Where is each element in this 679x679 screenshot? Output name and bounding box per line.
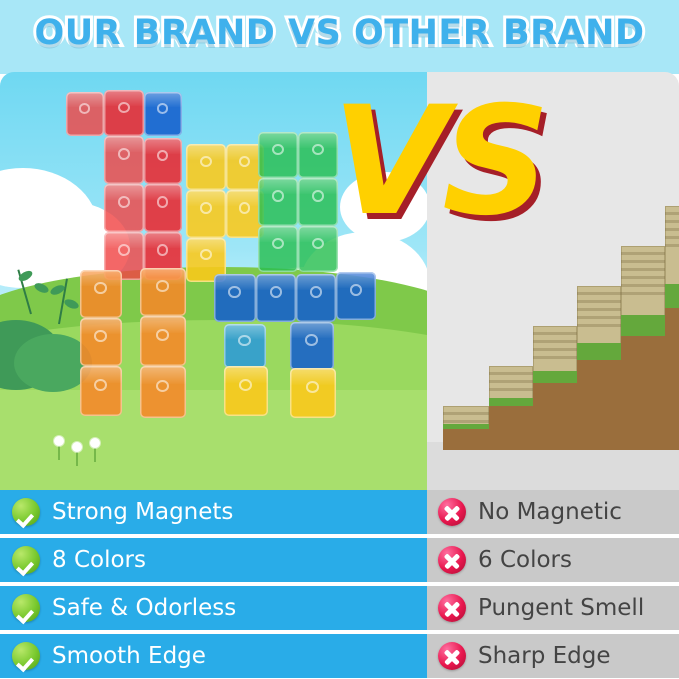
ours-feature-cell: Smooth Edge [0, 634, 427, 678]
magnetic-cube [80, 366, 122, 416]
ours-feature-cell: Safe & Odorless [0, 586, 427, 630]
magnetic-cube [290, 322, 334, 370]
others-feature-label: Sharp Edge [478, 643, 611, 669]
magnetic-cube [140, 366, 186, 418]
feature-comparison-table: Strong Magnets No Magnetic 8 Colors 6 Co… [0, 490, 679, 679]
red-x-circle-icon [438, 594, 466, 622]
magnetic-cube [258, 132, 298, 178]
magnetic-cube [144, 184, 182, 232]
others-feature-label: Pungent Smell [478, 595, 644, 621]
red-x-circle-icon [438, 498, 466, 526]
grass-foreground [0, 390, 427, 490]
others-feature-cell: Sharp Edge [427, 634, 679, 678]
flower-stem [76, 450, 78, 466]
table-row: 8 Colors 6 Colors [0, 538, 679, 582]
magnetic-cube [186, 190, 226, 238]
red-x-circle-icon [438, 642, 466, 670]
magnetic-cube [104, 184, 144, 232]
red-x-circle-icon [438, 546, 466, 574]
others-feature-cell: No Magnetic [427, 490, 679, 534]
magnetic-cube [80, 318, 122, 366]
ours-feature-label: Smooth Edge [52, 643, 206, 669]
page-title: OUR BRAND VS OTHER BRAND [0, 8, 679, 58]
product-comparison-image: OUR BRAND VS OTHER BRAND [0, 0, 679, 679]
green-check-circle-icon [12, 498, 40, 526]
wooden-block-stack [443, 406, 489, 450]
ours-feature-cell: Strong Magnets [0, 490, 427, 534]
ours-feature-label: Strong Magnets [52, 499, 233, 525]
green-check-circle-icon [12, 594, 40, 622]
magnetic-cube [224, 324, 266, 368]
wooden-block-stack [489, 366, 533, 450]
header-band: OUR BRAND VS OTHER BRAND [0, 0, 679, 74]
magnetic-cube [144, 138, 182, 184]
magnetic-cube [104, 136, 144, 184]
magnetic-cube [336, 272, 376, 320]
table-row: Strong Magnets No Magnetic [0, 490, 679, 534]
table-row: Smooth Edge Sharp Edge [0, 634, 679, 678]
wooden-block-stack [533, 326, 577, 450]
ours-feature-cell: 8 Colors [0, 538, 427, 582]
magnetic-cube [80, 270, 122, 318]
table-row: Safe & Odorless Pungent Smell [0, 586, 679, 630]
magnetic-cube [140, 268, 186, 316]
magnetic-cube [258, 178, 298, 226]
others-feature-cell: Pungent Smell [427, 586, 679, 630]
green-check-circle-icon [12, 546, 40, 574]
ours-feature-label: 8 Colors [52, 547, 146, 573]
flower-icon [72, 442, 82, 452]
magnetic-cube [256, 274, 296, 322]
others-feature-cell: 6 Colors [427, 538, 679, 582]
others-feature-label: No Magnetic [478, 499, 622, 525]
magnetic-cube [214, 274, 256, 322]
magnetic-cube [290, 368, 336, 418]
magnetic-cube [66, 92, 104, 136]
flower-icon [54, 436, 64, 446]
magnetic-cube [224, 366, 268, 416]
magnetic-cube [258, 226, 298, 272]
magnetic-cube [296, 274, 336, 322]
comparison-image-panel: VS OURS Others [0, 72, 679, 490]
green-check-circle-icon [12, 642, 40, 670]
magnetic-cube [144, 92, 182, 136]
wooden-block-stack [665, 206, 679, 450]
ours-feature-label: Safe & Odorless [52, 595, 236, 621]
magnetic-cube [104, 90, 144, 136]
flower-icon [90, 438, 100, 448]
flower-stem [58, 444, 60, 460]
flower-stem [94, 446, 96, 462]
others-feature-label: 6 Colors [478, 547, 572, 573]
magnetic-cube [140, 316, 186, 366]
wooden-block-stack [621, 246, 665, 450]
magnetic-cube [186, 144, 226, 190]
wooden-block-stack [577, 286, 621, 450]
vs-label: VS [332, 82, 544, 242]
